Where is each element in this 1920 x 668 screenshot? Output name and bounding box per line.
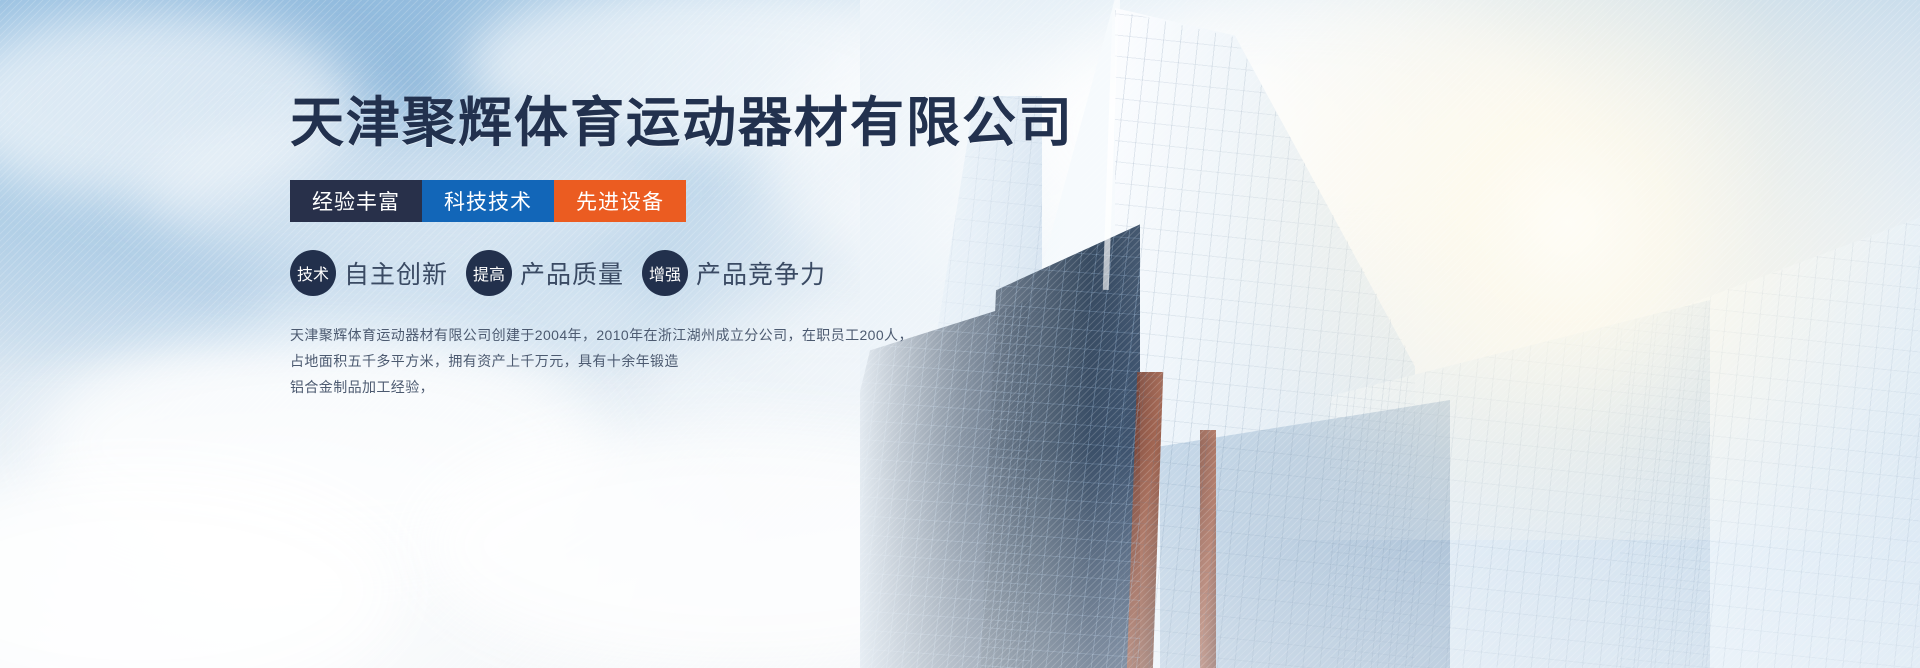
feature-pill-row: 技术 自主创新 提高 产品质量 增强 产品竞争力 bbox=[290, 250, 826, 296]
badge-experience[interactable]: 经验丰富 bbox=[290, 180, 422, 222]
badge-row: 经验丰富 科技技术 先进设备 bbox=[290, 180, 686, 222]
feature-pill-innovation: 技术 自主创新 bbox=[290, 250, 448, 296]
description-line: 铝合金制品加工经验， bbox=[290, 374, 850, 400]
pill-tag-icon: 技术 bbox=[290, 250, 336, 296]
window-grid bbox=[1620, 180, 1920, 668]
pill-label: 产品竞争力 bbox=[696, 255, 826, 291]
description-line: 占地面积五千多平方米，拥有资产上千万元，具有十余年锻造 bbox=[290, 348, 850, 374]
pill-tag-icon: 增强 bbox=[642, 250, 688, 296]
pill-label: 产品质量 bbox=[520, 255, 624, 291]
feature-pill-quality: 提高 产品质量 bbox=[466, 250, 624, 296]
pill-tag-icon: 提高 bbox=[466, 250, 512, 296]
feature-pill-competitiveness: 增强 产品竞争力 bbox=[642, 250, 826, 296]
badge-equipment[interactable]: 先进设备 bbox=[554, 180, 686, 222]
banner-content: 天津聚辉体育运动器材有限公司 经验丰富 科技技术 先进设备 技术 自主创新 提高… bbox=[290, 92, 1110, 400]
description-line: 天津聚辉体育运动器材有限公司创建于2004年，2010年在浙江湖州成立分公司，在… bbox=[290, 322, 850, 348]
badge-technology[interactable]: 科技技术 bbox=[422, 180, 554, 222]
pill-label: 自主创新 bbox=[344, 255, 448, 291]
hero-banner: 天津聚辉体育运动器材有限公司 经验丰富 科技技术 先进设备 技术 自主创新 提高… bbox=[0, 0, 1920, 668]
company-description: 天津聚辉体育运动器材有限公司创建于2004年，2010年在浙江湖州成立分公司，在… bbox=[290, 322, 850, 400]
page-title: 天津聚辉体育运动器材有限公司 bbox=[290, 92, 1110, 154]
